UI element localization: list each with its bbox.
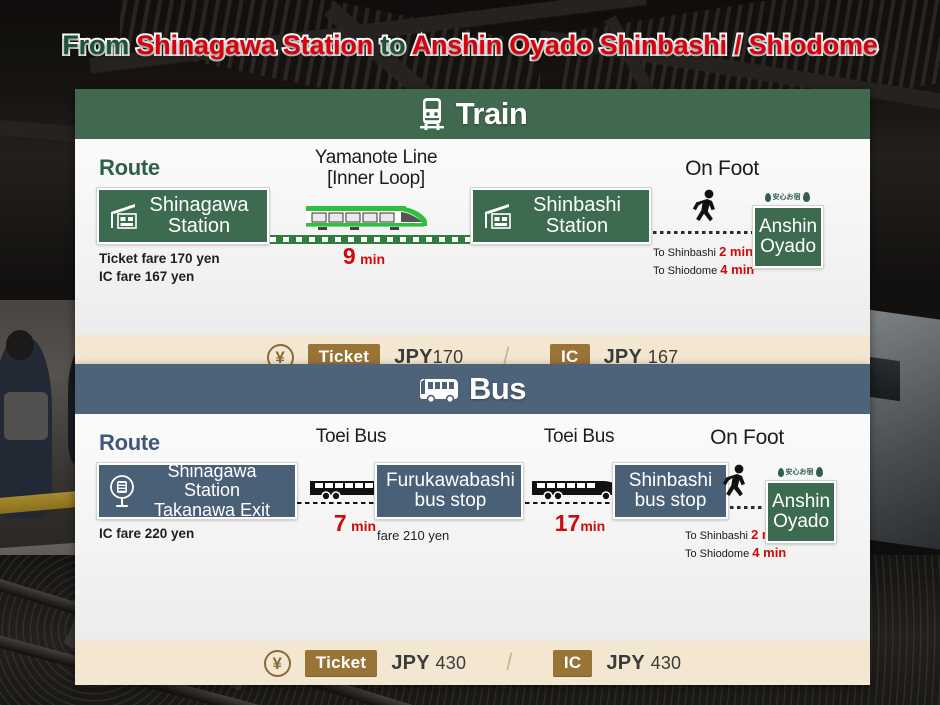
leaf-icon-right (803, 192, 810, 202)
train-transfer-station-name: ShinbashiStation (514, 195, 640, 237)
bus-ticket-fare: JPY 430 (391, 652, 466, 675)
train-route-label: Route (99, 155, 160, 181)
bus-stop1-name: Furukawabashibus stop (386, 471, 515, 511)
bus-ic-badge[interactable]: IC (553, 650, 593, 677)
train-segment-title: Yamanote Line[Inner Loop] (281, 147, 471, 190)
bus-segment2-title: Toei Bus (519, 426, 639, 447)
fare-separator: / (480, 648, 540, 678)
bus-destination-box[interactable]: AnshinOyado (766, 481, 836, 543)
leaf-icon-left (765, 193, 771, 202)
bus-origin-stop-name: Shinagawa StationTakanawa Exit (138, 462, 286, 519)
train-panel-title: Train (456, 96, 528, 132)
train-origin-fare-note: Ticket fare 170 yenIC fare 167 yen (99, 250, 220, 286)
train-walk-title: On Foot (647, 157, 797, 181)
train-destination-box[interactable]: AnshinOyado (753, 206, 823, 268)
walking-person-icon (723, 464, 753, 504)
anshin-oyado-logo: 安心お宿 (769, 464, 831, 480)
anshin-oyado-logo-text: 安心お宿 (786, 467, 814, 477)
walking-person-icon (693, 189, 723, 229)
yen-circle-icon: ¥ (264, 650, 291, 677)
leaf-icon-right (816, 467, 823, 477)
bus-stop-icon (108, 474, 138, 508)
train-walk-times: To Shinbashi 2 min To Shiodome 4 min (653, 243, 754, 279)
bus-stop1-fare-note: fare 210 yen (377, 527, 449, 545)
train-origin-station-box[interactable]: ShinagawaStation (97, 188, 269, 244)
bus-stop2-box[interactable]: Shinbashibus stop (613, 463, 728, 519)
train-segment-duration: 9 min (299, 243, 429, 270)
bus-route-label: Route (99, 430, 160, 456)
title-part-from: From (62, 30, 136, 60)
station-icon (482, 201, 514, 231)
bus-fare-bar: ¥ Ticket JPY 430 / IC JPY 430 (75, 641, 870, 685)
bus-side-icon (530, 472, 622, 502)
bus-ticket-badge[interactable]: Ticket (305, 650, 378, 677)
bus-origin-fare-note: IC fare 220 yen (99, 525, 194, 543)
train-panel-body: Route ShinagawaStation Ticket fare 170 y… (75, 139, 870, 335)
bus-panel-body: Route Shinagawa StationTakanawa Exit IC … (75, 414, 870, 641)
station-icon (108, 201, 140, 231)
train-transfer-station-box[interactable]: ShinbashiStation (471, 188, 651, 244)
train-origin-station-name: ShinagawaStation (140, 195, 258, 237)
bus-panel-title: Bus (469, 371, 526, 407)
title-part-to: to (373, 30, 412, 60)
anshin-oyado-logo-text: 安心お宿 (773, 192, 801, 202)
bus-origin-stop-box[interactable]: Shinagawa StationTakanawa Exit (97, 463, 297, 519)
bus-panel-header: Bus (75, 364, 870, 414)
train-panel-header: Train (75, 89, 870, 139)
bus-segment1-title: Toei Bus (291, 426, 411, 447)
bus-ic-fare: JPY 430 (606, 652, 681, 675)
bus-stop2-name: Shinbashibus stop (624, 471, 717, 511)
title-part-origin: Shinagawa Station (136, 30, 373, 60)
bus-route-panel: Bus Route Shinagawa StationTakanawa Exit… (75, 364, 870, 685)
bus-walk-title: On Foot (672, 426, 822, 450)
title-part-destination: Anshin Oyado Shinbashi / Shiodome (412, 30, 878, 60)
train-destination-name: AnshinOyado (759, 217, 817, 257)
page-title: From Shinagawa Station to Anshin Oyado S… (0, 30, 940, 61)
anshin-oyado-logo: 安心お宿 (756, 189, 818, 205)
train-route-panel: Train Route ShinagawaStation Ticket fare… (75, 89, 870, 379)
leaf-icon-left (778, 468, 784, 477)
train-side-icon (304, 201, 429, 237)
bus-stop1-box[interactable]: Furukawabashibus stop (375, 463, 523, 519)
bus-destination-name: AnshinOyado (772, 492, 830, 532)
bus-icon (419, 375, 459, 403)
train-icon (418, 97, 446, 131)
